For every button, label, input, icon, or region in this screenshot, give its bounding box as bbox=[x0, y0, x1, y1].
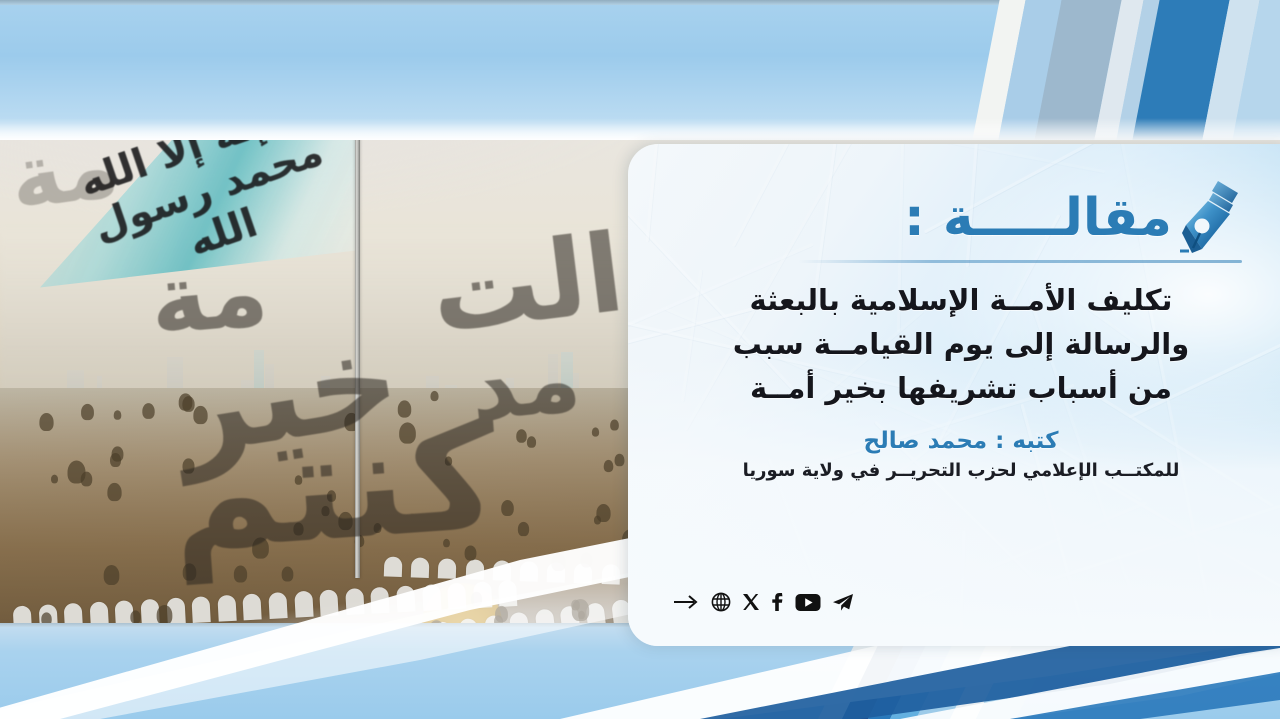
card-title-label: مقالـــــة : bbox=[904, 192, 1172, 244]
youtube-icon[interactable] bbox=[795, 593, 821, 612]
headline-line-1: تكليف الأمــة الإسلامية بالبعثة bbox=[684, 278, 1238, 322]
headline-line-3: من أسباب تشريفها بخير أمــة bbox=[684, 366, 1238, 410]
facebook-icon[interactable] bbox=[771, 592, 784, 612]
headline-line-2: والرسالة إلى يوم القيامــة سبب bbox=[684, 322, 1238, 366]
fountain-pen-nib-icon bbox=[1178, 179, 1244, 257]
article-headline: تكليف الأمــة الإسلامية بالبعثة والرسالة… bbox=[674, 278, 1248, 410]
arrow-right-icon bbox=[674, 594, 700, 610]
title-underline bbox=[798, 260, 1242, 263]
organization-line: للمكتــب الإعلامي لحزب التحريــر في ولاي… bbox=[674, 460, 1248, 481]
social-links-row bbox=[674, 592, 854, 612]
article-card: مقالـــــة : تكليف الأمــة الإسلامية بال… bbox=[628, 144, 1280, 646]
author-byline: كتبه : محمد صالح bbox=[674, 428, 1248, 454]
poster-canvas: لا إله إلا الله محمد رسول الله ما في الت… bbox=[0, 0, 1280, 719]
card-title-row: مقالـــــة : bbox=[674, 172, 1248, 264]
band-bottom-gloss bbox=[0, 118, 1280, 140]
card-content: مقالـــــة : تكليف الأمــة الإسلامية بال… bbox=[628, 144, 1280, 646]
globe-icon[interactable] bbox=[711, 592, 731, 612]
top-decorative-band bbox=[0, 0, 1280, 140]
x-twitter-icon[interactable] bbox=[742, 593, 760, 611]
telegram-icon[interactable] bbox=[832, 593, 854, 612]
